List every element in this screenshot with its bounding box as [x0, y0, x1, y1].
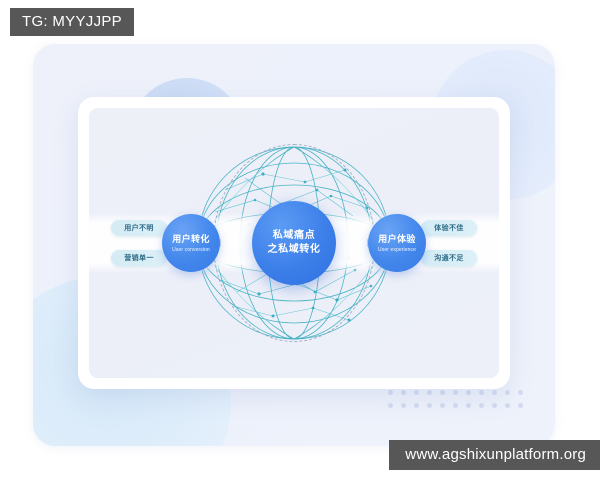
dot-grid-dot	[453, 403, 458, 408]
node-user-conversion[interactable]: 用户转化 User conversion	[162, 214, 220, 272]
dot-grid-dot	[466, 390, 471, 395]
dot-grid-dot	[427, 390, 432, 395]
dot-grid-dot	[492, 403, 497, 408]
node-label-cn: 用户体验	[378, 233, 416, 245]
dot-grid-dot	[518, 390, 523, 395]
site-watermark: www.agshixunplatform.org	[389, 440, 600, 470]
dot-grid-dot	[440, 390, 445, 395]
telegram-handle-badge: TG: MYYJJPP	[10, 8, 134, 36]
dot-grid-dot	[401, 390, 406, 395]
dot-grid-dot	[414, 403, 419, 408]
node-label-cn-line-2: 之私域转化	[268, 243, 321, 258]
dot-grid-dot	[453, 390, 458, 395]
dot-grid-dot	[427, 403, 432, 408]
dot-grid-dot	[440, 403, 445, 408]
dot-grid-dot	[505, 403, 510, 408]
dot-grid-dot	[401, 403, 406, 408]
node-label-cn-line-1: 私域痛点	[273, 229, 315, 244]
node-private-domain-core[interactable]: 私域痛点 之私域转化	[252, 201, 336, 285]
dot-grid-dot	[479, 403, 484, 408]
node-row: 用户转化 User conversion 私域痛点 之私域转化 用户体验 Use…	[89, 200, 499, 286]
dot-grid-dot	[492, 390, 497, 395]
dot-grid-dot	[388, 390, 393, 395]
dot-grid-dot	[388, 403, 393, 408]
dot-grid-dot	[466, 403, 471, 408]
dot-grid-dot	[505, 390, 510, 395]
decorative-dot-grid	[388, 390, 531, 416]
dot-grid-dot	[414, 390, 419, 395]
node-label-en: User experience	[378, 247, 416, 253]
diagram-stage: 用户不明 营销单一 体验不佳 沟通不足	[89, 108, 499, 378]
infographic-card: 用户不明 营销单一 体验不佳 沟通不足	[78, 97, 510, 389]
node-label-cn: 用户转化	[172, 233, 210, 245]
dot-grid-dot	[518, 403, 523, 408]
node-label-en: User conversion	[172, 247, 210, 253]
dot-grid-dot	[479, 390, 484, 395]
node-user-experience[interactable]: 用户体验 User experience	[368, 214, 426, 272]
outer-background-panel: 用户不明 营销单一 体验不佳 沟通不足	[33, 44, 555, 446]
